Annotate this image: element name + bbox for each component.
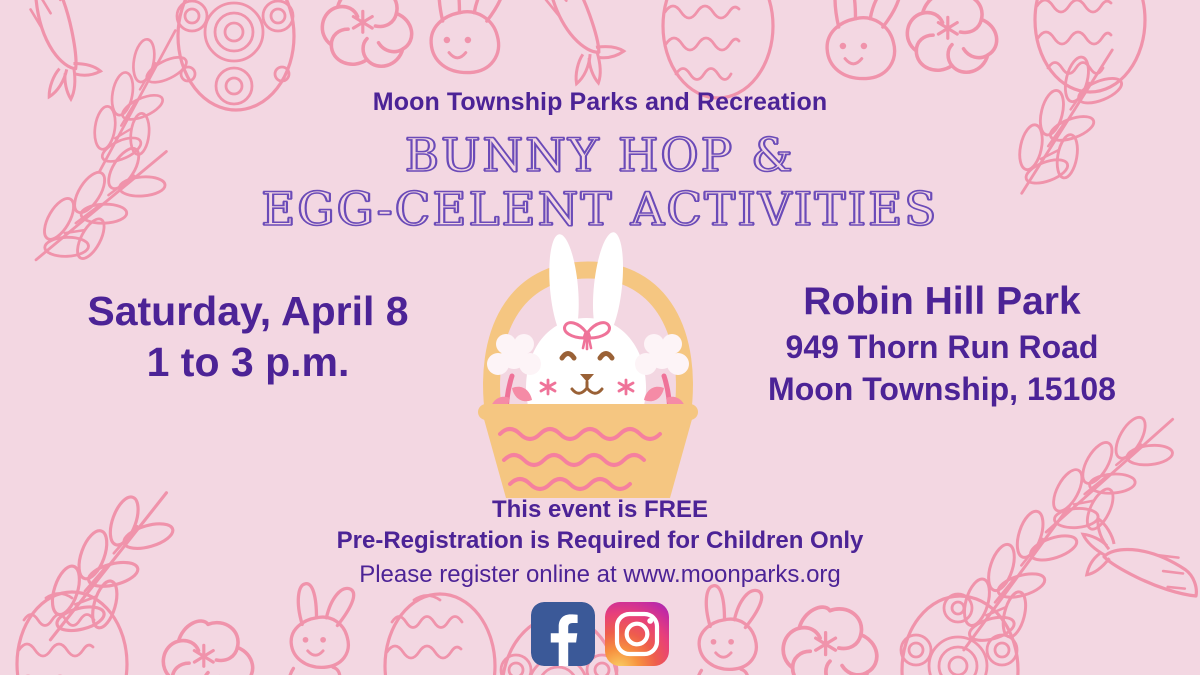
registration-required-line: Pre-Registration is Required for Childre… (0, 525, 1200, 557)
event-flyer: Moon Township Parks and Recreation BUNNY… (0, 0, 1200, 675)
registration-info: This event is FREE Pre-Registration is R… (0, 494, 1200, 592)
bunny-in-easter-basket-illustration (448, 222, 728, 507)
instagram-icon[interactable] (605, 602, 669, 666)
flyer-content: Moon Township Parks and Recreation BUNNY… (0, 0, 1200, 675)
event-date: Saturday, April 8 (48, 286, 448, 336)
event-time: 1 to 3 p.m. (48, 336, 448, 388)
social-links (0, 602, 1200, 666)
event-location-block: Robin Hill Park 949 Thorn Run Road Moon … (732, 278, 1152, 410)
facebook-icon[interactable] (531, 602, 595, 666)
event-date-block: Saturday, April 8 1 to 3 p.m. (48, 286, 448, 388)
organization-name: Moon Township Parks and Recreation (0, 88, 1200, 117)
event-title: BUNNY HOP & EGG-CELENT ACTIVITIES (0, 128, 1200, 236)
venue-street: 949 Thorn Run Road (732, 326, 1152, 368)
registration-online-line: Please register online at www.moonparks.… (0, 557, 1200, 592)
venue-name: Robin Hill Park (732, 278, 1152, 326)
venue-city-zip: Moon Township, 15108 (732, 368, 1152, 410)
registration-free-line: This event is FREE (0, 494, 1200, 525)
event-title-line-1: BUNNY HOP & (0, 128, 1200, 182)
